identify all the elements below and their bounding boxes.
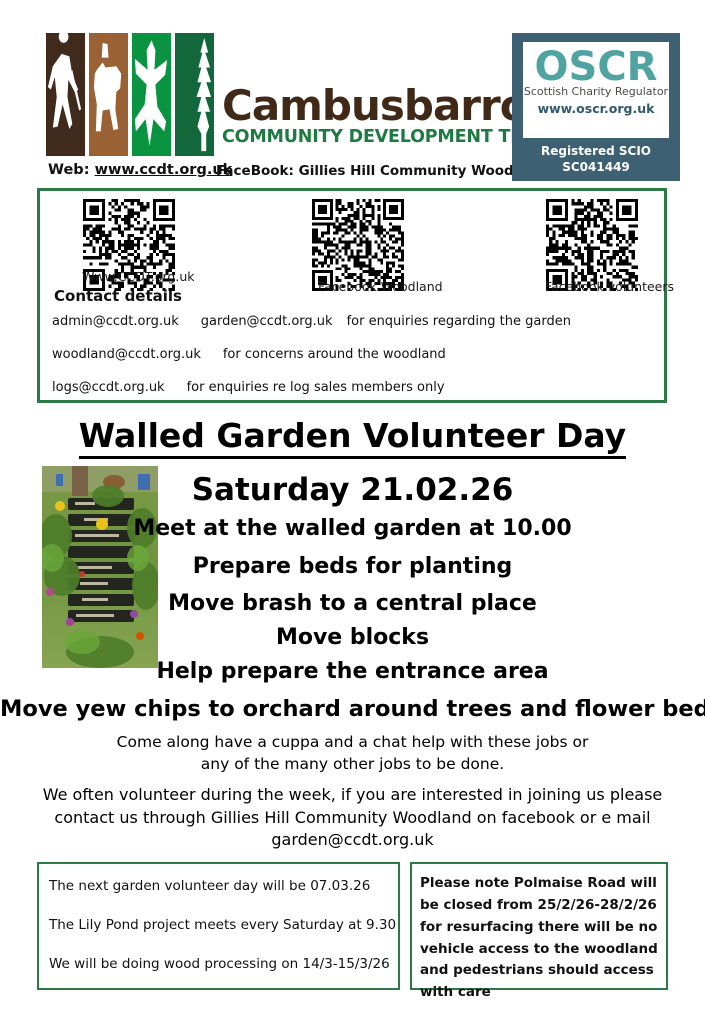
contact-para-email[interactable]: garden@ccdt.org.uk (0, 829, 705, 852)
contact-details-title: Contact details (54, 287, 182, 305)
event-task: Move yew chips to orchard around trees a… (0, 696, 705, 722)
poster-page: Cambusbarron COMMUNITY DEVELOPMENT TRUST… (0, 0, 705, 1024)
event-task: Prepare beds for planting (0, 554, 705, 579)
qr-code-facebook-volunteers[interactable] (546, 199, 638, 291)
oscr-url[interactable]: www.oscr.org.uk (523, 101, 669, 116)
contact-email[interactable]: woodland@ccdt.org.uk (52, 347, 201, 362)
notice-line: The Lily Pond project meets every Saturd… (49, 917, 398, 933)
dog-icon (89, 33, 128, 156)
qr-caption-website: Www.CCDT.org.uk (82, 269, 194, 284)
event-task: Meet at the walled garden at 10.00 (0, 516, 705, 541)
page-title: Walled Garden Volunteer Day (0, 416, 705, 455)
poster-header: Cambusbarron COMMUNITY DEVELOPMENT TRUST… (0, 0, 705, 186)
event-task: Move blocks (0, 625, 705, 650)
contact-para-line-1: We often volunteer during the week, if y… (0, 784, 705, 807)
invite-line-1: Come along have a cuppa and a chat help … (0, 731, 705, 753)
tree-icon (175, 33, 214, 156)
event-date: Saturday 21.02.26 (0, 472, 705, 508)
qr-code-facebook-woodland[interactable] (312, 199, 404, 291)
bird-icon (132, 33, 171, 156)
contact-details-box: Www.CCDT.org.uk Facebook Woodland Facebo… (37, 188, 667, 403)
upcoming-dates-box: The next garden volunteer day will be 07… (37, 862, 400, 990)
oscr-wordmark: OSCR (523, 46, 669, 88)
contact-paragraph: We often volunteer during the week, if y… (0, 784, 705, 852)
contact-line: admin@ccdt.org.ukgarden@ccdt.org.ukfor e… (52, 315, 656, 328)
page-title-text: Walled Garden Volunteer Day (79, 416, 626, 459)
oscr-tagline: Scottish Charity Regulator (523, 86, 669, 98)
event-task: Help prepare the entrance area (0, 659, 705, 684)
contact-note: for enquiries re log sales members only (187, 380, 445, 395)
invite-line-2: any of the many other jobs to be done. (0, 753, 705, 775)
contact-email[interactable]: admin@ccdt.org.uk (52, 314, 179, 329)
contact-para-line-2: contact us through Gillies Hill Communit… (0, 807, 705, 830)
org-subtitle: COMMUNITY DEVELOPMENT TRUST (222, 128, 522, 147)
walker-icon (46, 33, 85, 156)
road-closure-text: Please note Polmaise Road will be closed… (420, 873, 666, 1004)
invite-paragraph: Come along have a cuppa and a chat help … (0, 731, 705, 775)
facebook-line: FaceBook: Gillies Hill Community Woodlan… (216, 163, 547, 179)
event-task: Move brash to a central place (0, 591, 705, 616)
org-wordmark: Cambusbarron COMMUNITY DEVELOPMENT TRUST (222, 86, 522, 147)
contact-note: for concerns around the woodland (223, 347, 446, 362)
contact-email-list: admin@ccdt.org.ukgarden@ccdt.org.ukfor e… (52, 315, 656, 414)
oscr-badge: OSCR Scottish Charity Regulator www.oscr… (512, 33, 680, 181)
qr-code-row: Www.CCDT.org.uk Facebook Woodland Facebo… (40, 191, 664, 291)
web-line: Web: www.ccdt.org.uk (48, 162, 232, 178)
contact-email-alt[interactable]: garden@ccdt.org.uk (201, 314, 333, 329)
oscr-reg-line2: SC041449 (512, 159, 680, 175)
road-closure-notice-box: Please note Polmaise Road will be closed… (410, 862, 668, 990)
oscr-logo-box: OSCR Scottish Charity Regulator www.oscr… (521, 40, 671, 140)
contact-line: logs@ccdt.org.ukfor enquiries re log sal… (52, 381, 656, 394)
oscr-reg-line1: Registered SCIO (512, 143, 680, 159)
notice-line: The next garden volunteer day will be 07… (49, 878, 398, 894)
web-label: Web: (48, 162, 90, 178)
contact-email[interactable]: logs@ccdt.org.uk (52, 380, 165, 395)
contact-note: for enquiries regarding the garden (347, 314, 571, 329)
org-name: Cambusbarron (222, 86, 522, 126)
notice-line: We will be doing wood processing on 14/3… (49, 956, 398, 972)
oscr-registration: Registered SCIO SC041449 (512, 143, 680, 175)
web-url[interactable]: www.ccdt.org.uk (95, 162, 233, 178)
contact-line: woodland@ccdt.org.ukfor concerns around … (52, 348, 656, 361)
qr-caption-facebook-woodland: Facebook Woodland (318, 279, 443, 294)
qr-caption-facebook-volunteers: Facebook volunteers (545, 279, 674, 294)
ccdt-logo (46, 33, 214, 156)
